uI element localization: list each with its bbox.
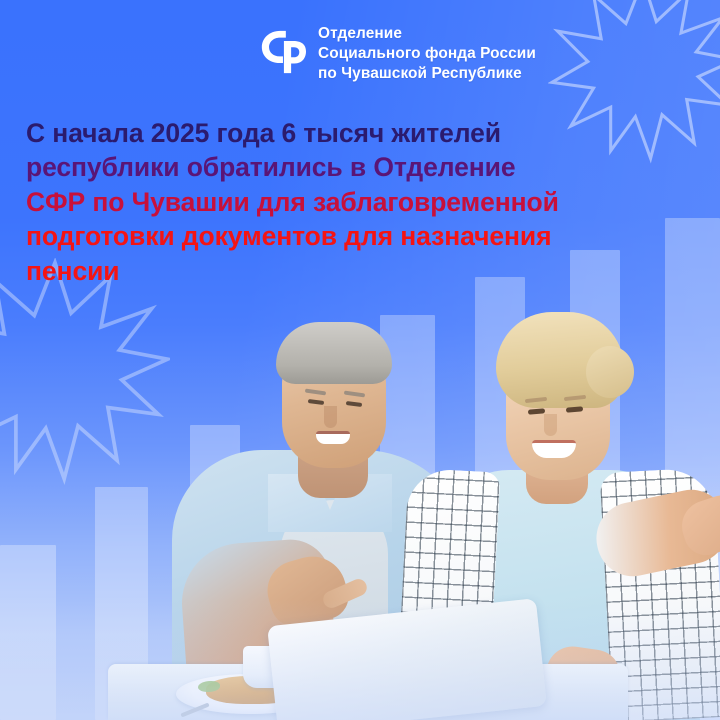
organization-name: Отделение Социального фонда России по Чу… bbox=[318, 24, 536, 84]
woman-smile bbox=[532, 440, 576, 458]
sfr-monogram-icon bbox=[258, 27, 306, 77]
headline-line-5: пенсии bbox=[26, 254, 652, 288]
headline-line-3: СФР по Чувашии для заблаговременной bbox=[26, 185, 652, 219]
man-nose bbox=[324, 406, 337, 428]
woman-nose bbox=[544, 414, 557, 436]
headline-line-2: республики обратились в Отделение bbox=[26, 150, 652, 184]
headline: С начала 2025 года 6 тысяч жителей респу… bbox=[26, 116, 652, 288]
man-hair bbox=[276, 322, 392, 384]
brand-header: Отделение Социального фонда России по Чу… bbox=[258, 24, 536, 84]
woman-hair-bun bbox=[586, 346, 634, 398]
man-mouth bbox=[316, 431, 350, 444]
headline-line-4: подготовки документов для назначения bbox=[26, 219, 652, 253]
headline-line-1: С начала 2025 года 6 тысяч жителей bbox=[26, 116, 652, 150]
poster-canvas: Отделение Социального фонда России по Чу… bbox=[0, 0, 720, 720]
